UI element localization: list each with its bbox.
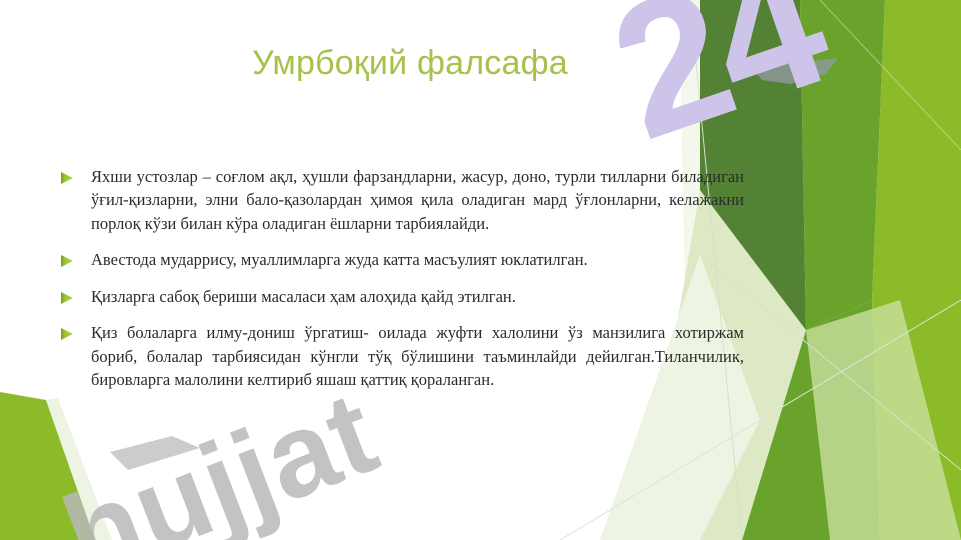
- slide-title: Умрбоқий фалсафа: [60, 44, 760, 83]
- gray-arrow-shape: [752, 54, 838, 84]
- slide-body: Яхши устозлар – соғлом ақл, ҳушли фарзан…: [60, 165, 744, 391]
- slide: 24 hujjat Умрбоқий фалсафа: [0, 0, 961, 540]
- watermark-number-24: 24: [592, 0, 842, 170]
- gray-shard-bottom-left: [110, 436, 200, 470]
- bullet-text: Яхши устозлар – соғлом ақл, ҳушли фарзан…: [91, 165, 744, 235]
- green-triangle-bullet-icon: [60, 254, 74, 268]
- green-triangle-bullet-icon: [60, 327, 74, 341]
- green-triangle-bullet-icon: [60, 171, 74, 185]
- list-item: Авестода мударрису, муаллимларга жуда ка…: [60, 248, 744, 271]
- list-item: Яхши устозлар – соғлом ақл, ҳушли фарзан…: [60, 165, 744, 235]
- left-bottom-wedge: [0, 392, 95, 540]
- list-item: Қизларга сабоқ бериши масаласи ҳам алоҳи…: [60, 285, 744, 308]
- soft-light-band: [806, 300, 961, 540]
- bullet-text: Қизларга сабоқ бериши масаласи ҳам алоҳи…: [91, 285, 744, 308]
- mid-green-band: [800, 0, 885, 330]
- green-triangle-bullet-icon: [60, 291, 74, 305]
- bullet-text: Қиз болаларга илму-дониш ўргатиш- оилада…: [91, 321, 744, 391]
- light-green-lower-triangle: [742, 300, 880, 540]
- bullet-text: Авестода мударрису, муаллимларга жуда ка…: [91, 248, 744, 271]
- hairline-4: [820, 0, 961, 150]
- list-item: Қиз болаларга илму-дониш ўргатиш- оилада…: [60, 321, 744, 391]
- bright-green-right: [872, 0, 961, 540]
- left-bottom-wedge-soft: [46, 398, 112, 540]
